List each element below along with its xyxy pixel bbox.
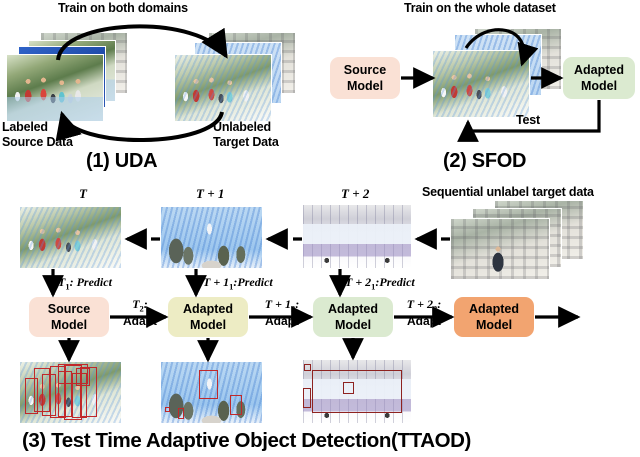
ttaod-model-label-0: Source Model [48,301,90,334]
ttaod-model-label-1: Adapted Model [183,301,233,334]
uda-target-label-line2: Target Data [213,135,279,149]
ttaod-timestep-label-1: T + 1 [196,186,224,202]
detection-bbox [304,364,311,371]
uda-caption: (1) UDA [86,150,157,173]
ttaod-adapt-label-2: T + 22: Adapt [392,297,456,329]
ttaod-frame-2 [303,205,411,268]
ttaod-model-box-0[interactable]: Source Model [29,297,109,337]
sfod-adapted-model-box[interactable]: Adapted Model [563,57,635,99]
ttaod-detection-2 [303,360,411,423]
ttaod-predict-label-2: T + 21:Predict [345,275,415,291]
ttaod-frame-1 [161,207,262,268]
uda-source-image-stack [6,32,128,122]
source-stack-front-photo [6,54,104,122]
ttaod-stream-image-stack [450,200,585,280]
uda-target-label-line1: Unlabeled [213,120,271,134]
uda-source-label-line1: Labeled [2,120,48,134]
ttaod-adapt-label-1: T + 12: Adapt [250,297,314,329]
detection-bbox [312,370,402,413]
sfod-test-label: Test [516,113,540,127]
sfod-source-model-label: Source Model [344,62,386,95]
ttaod-caption: (3) Test Time Adaptive Object Detection(… [22,429,471,453]
uda-target-image-stack [174,32,296,122]
ttaod-model-label-2: Adapted Model [328,301,378,334]
ttaod-frame-0 [20,207,121,268]
ttaod-detection-1 [161,362,262,423]
detection-bbox [343,382,354,394]
sfod-stack-front-photo [432,50,530,118]
ttaod-model-box-3[interactable]: Adapted Model [454,297,534,337]
uda-top-label: Train on both domains [58,1,188,15]
stream-stack-front-photo [450,218,550,280]
detection-bbox [165,407,170,412]
detection-bbox [230,395,242,415]
sfod-caption: (2) SFOD [443,150,526,173]
ttaod-model-label-3: Adapted Model [469,301,519,334]
ttaod-predict-label-0: T1: Predict [58,275,112,291]
detection-bbox [178,408,184,419]
detection-bbox [199,370,218,399]
sfod-source-model-box[interactable]: Source Model [330,57,400,99]
ttaod-model-box-2[interactable]: Adapted Model [313,297,393,337]
ttaod-predict-label-1: T + 11:Predict [203,275,273,291]
uda-source-label-line2: Source Data [2,135,73,149]
target-stack-front-photo [174,54,272,122]
ttaod-timestep-label-2: T + 2 [341,186,369,202]
detection-bbox [76,368,90,386]
ttaod-stream-label: Sequential unlabel target data [422,185,594,199]
sfod-adapted-model-label: Adapted Model [574,62,624,95]
sfod-target-image-stack [432,28,562,120]
ttaod-timestep-label-0: T [79,186,87,202]
sfod-top-label: Train on the whole dataset [404,1,556,15]
detection-bbox [303,388,311,408]
ttaod-adapt-label-0: T2: Adapt [113,297,167,329]
ttaod-detection-0 [20,362,121,423]
ttaod-model-box-1[interactable]: Adapted Model [168,297,248,337]
